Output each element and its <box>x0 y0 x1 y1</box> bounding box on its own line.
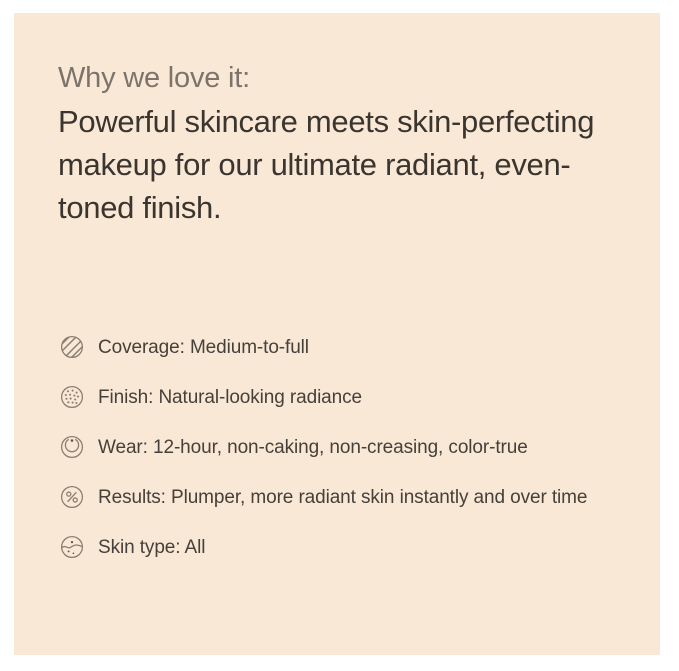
spec-text-coverage: Coverage: Medium-to-full <box>98 333 309 361</box>
eyebrow-label: Why we love it: <box>58 58 628 98</box>
headline-block: Why we love it: Powerful skincare meets … <box>58 58 628 229</box>
percent-circle-icon <box>58 483 86 511</box>
spec-row-skin-type: Skin type: All <box>58 533 633 561</box>
spec-row-results: Results: Plumper, more radiant skin inst… <box>58 483 633 511</box>
spec-text-wear: Wear: 12-hour, non-caking, non-creasing,… <box>98 433 528 461</box>
spec-row-coverage: Coverage: Medium-to-full <box>58 333 633 361</box>
product-info-card: Why we love it: Powerful skincare meets … <box>14 13 660 655</box>
spec-text-results: Results: Plumper, more radiant skin inst… <box>98 483 587 511</box>
headline-text: Powerful skincare meets skin-perfecting … <box>58 100 628 229</box>
spec-list: Coverage: Medium-to-full <box>58 333 633 561</box>
spec-text-skin-type: Skin type: All <box>98 533 205 561</box>
spec-row-wear: Wear: 12-hour, non-caking, non-creasing,… <box>58 433 633 461</box>
spec-text-finish: Finish: Natural-looking radiance <box>98 383 362 411</box>
hatched-circle-icon <box>58 333 86 361</box>
skin-wave-circle-icon <box>58 533 86 561</box>
dotted-circle-icon <box>58 383 86 411</box>
spec-row-finish: Finish: Natural-looking radiance <box>58 383 633 411</box>
clock-circle-icon <box>58 433 86 461</box>
